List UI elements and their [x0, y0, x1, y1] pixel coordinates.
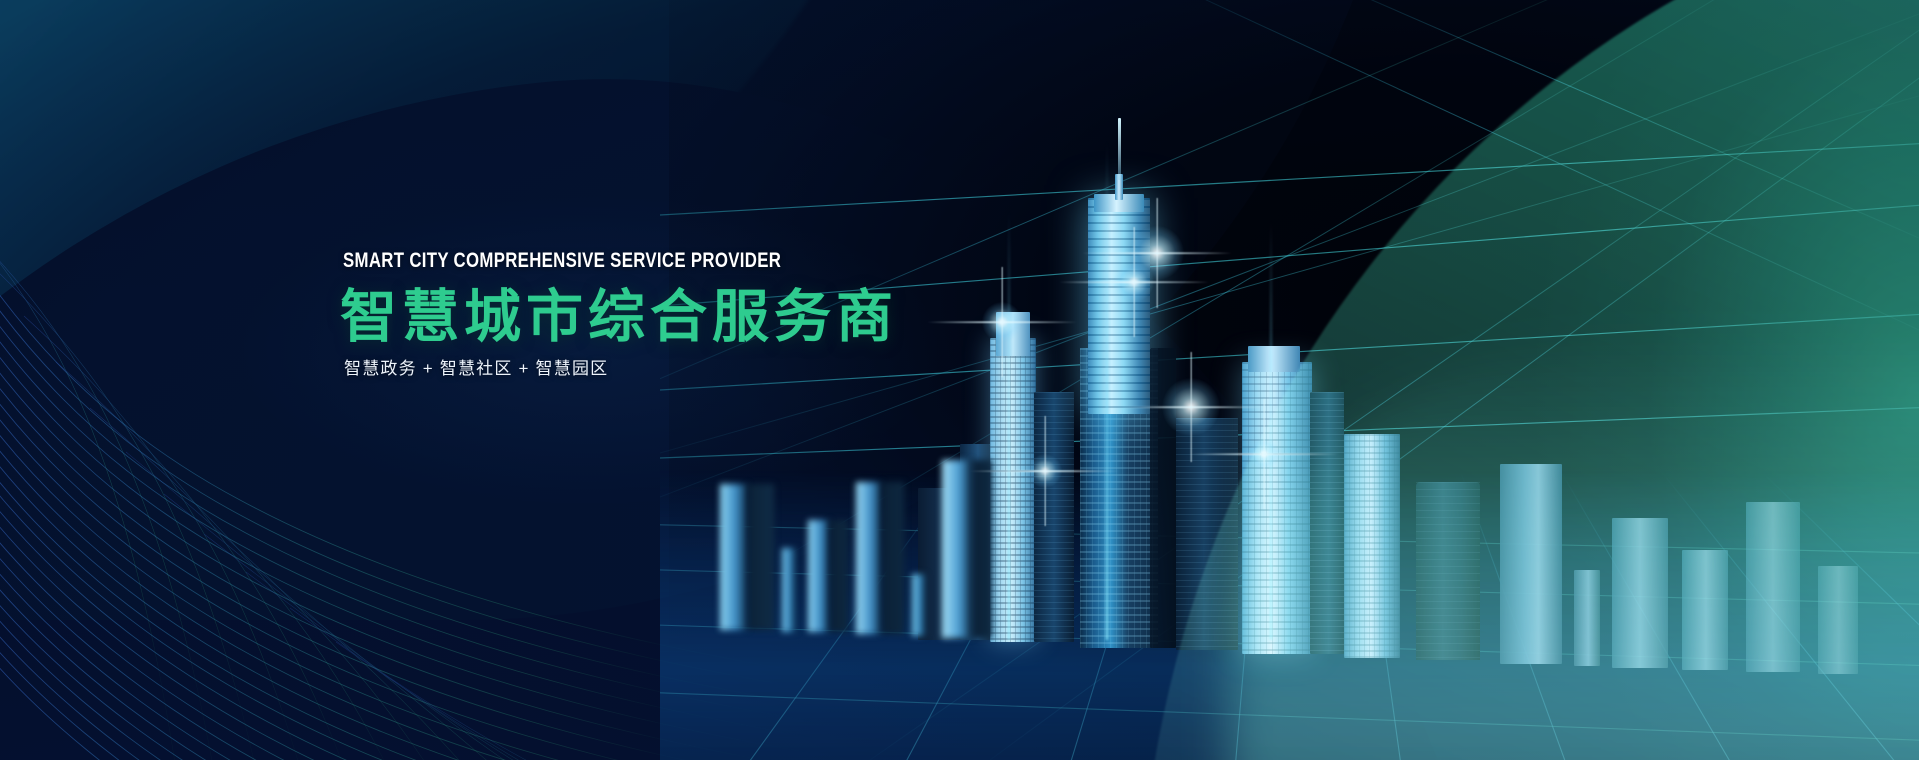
- fg-slab-8: [912, 574, 926, 636]
- green-edge-glow: [1489, 0, 1919, 760]
- lens-flare-5: [1028, 454, 1062, 488]
- tower-beam-2: [1106, 140, 1108, 640]
- fg-slab-6: [856, 482, 882, 634]
- fg-slab-10: [972, 460, 992, 638]
- fg-slab-9: [942, 460, 972, 638]
- fg-slab-4: [808, 520, 830, 632]
- fg-slab-5: [830, 520, 848, 632]
- fg-slab-2: [748, 484, 774, 630]
- lens-flare-2: [1114, 262, 1154, 302]
- tower-beam-1: [1008, 210, 1010, 640]
- city-skyline: [660, 0, 1919, 760]
- fg-slab-7: [882, 482, 904, 634]
- lens-flare-3: [982, 302, 1022, 342]
- fg-slab-3: [782, 548, 796, 632]
- hero-copy: SMART CITY COMPREHENSIVE SERVICE PROVIDE…: [343, 250, 898, 377]
- hero-headline: 智慧城市综合服务商: [340, 287, 898, 349]
- hero-subline: 智慧政务 + 智慧社区 + 智慧园区: [344, 360, 898, 377]
- hero-banner: SMART CITY COMPREHENSIVE SERVICE PROVIDE…: [0, 0, 1919, 760]
- hero-eyebrow: SMART CITY COMPREHENSIVE SERVICE PROVIDE…: [343, 250, 787, 271]
- lens-flare-4: [1162, 378, 1220, 436]
- fg-slab-1: [720, 484, 748, 630]
